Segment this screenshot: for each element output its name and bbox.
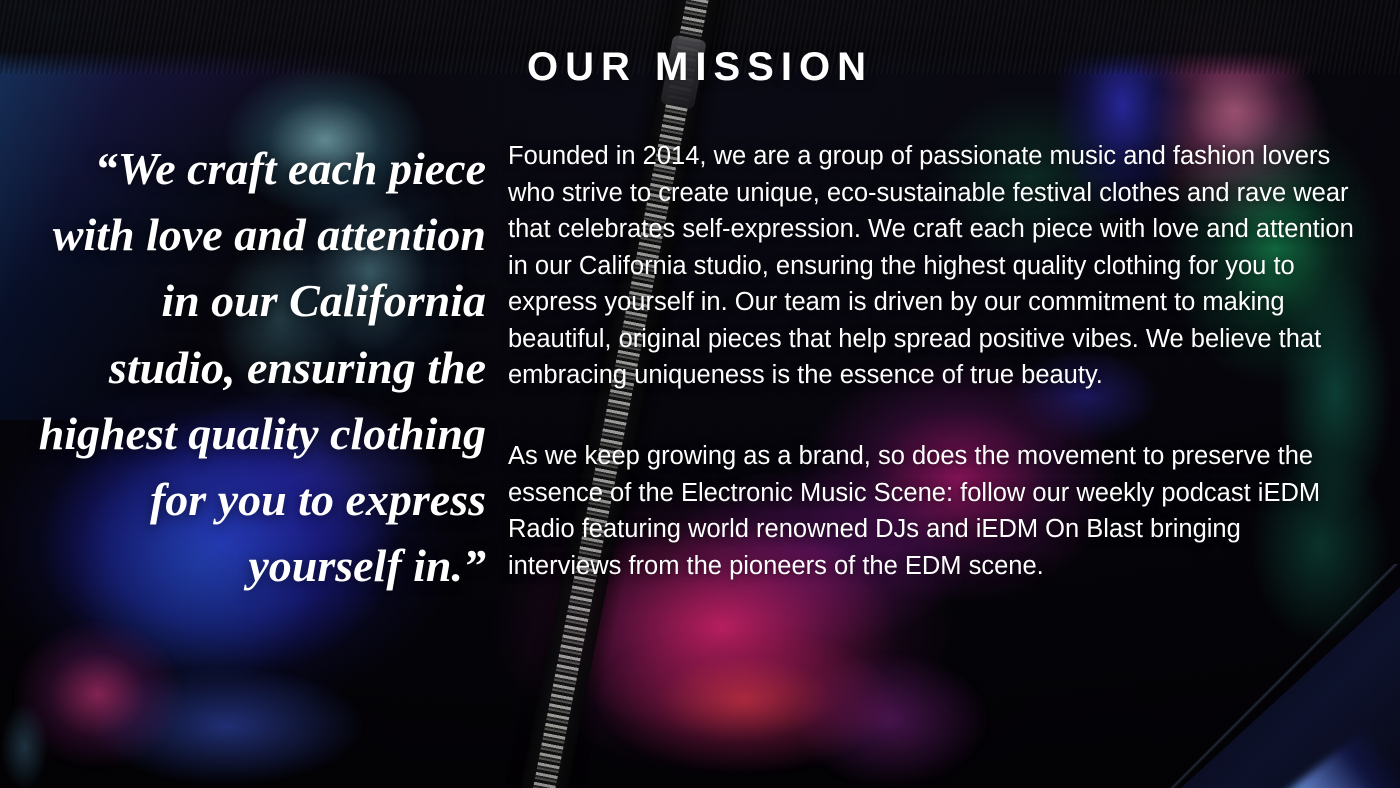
mission-paragraph-1: Founded in 2014, we are a group of passi…: [508, 138, 1354, 394]
pull-quote: “We craft each piece with love and atten…: [38, 136, 486, 600]
our-mission-section: OUR MISSION “We craft each piece with lo…: [0, 0, 1400, 788]
mission-paragraph-2: As we keep growing as a brand, so does t…: [508, 438, 1354, 584]
mission-body-column: Founded in 2014, we are a group of passi…: [508, 138, 1354, 584]
content-wrapper: OUR MISSION “We craft each piece with lo…: [0, 0, 1400, 788]
section-heading: OUR MISSION: [0, 47, 1400, 87]
